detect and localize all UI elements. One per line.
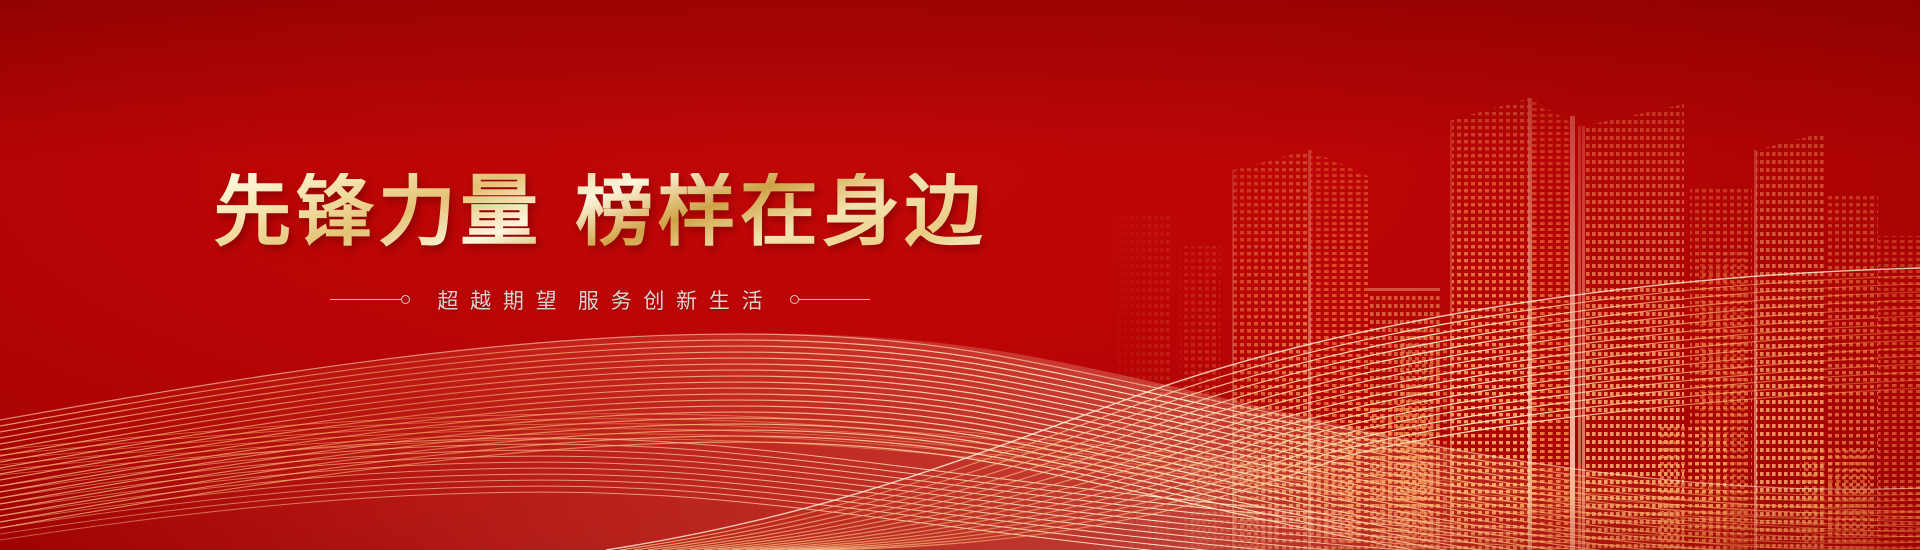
banner-subtitle-row: 超越期望服务创新生活	[330, 285, 871, 315]
ornament-line	[330, 299, 402, 300]
right-ornament-icon	[790, 295, 870, 304]
banner-subtitle: 超越期望服务创新生活	[426, 285, 775, 315]
ornament-line	[798, 299, 870, 300]
subtitle-part-2: 服务创新生活	[578, 289, 775, 313]
subtitle-part-1: 超越期望	[437, 289, 568, 313]
headline-part-2: 榜样在身边	[575, 167, 986, 257]
banner-content: 先锋力量榜样在身边 超越期望服务创新生活	[0, 0, 1200, 550]
banner-headline: 先锋力量榜样在身边	[207, 173, 992, 261]
headline-part-1: 先锋力量	[213, 167, 542, 257]
promotional-banner: 先锋力量榜样在身边 超越期望服务创新生活	[0, 0, 1920, 550]
ornament-circle-icon	[401, 295, 410, 304]
left-ornament-icon	[330, 295, 410, 304]
